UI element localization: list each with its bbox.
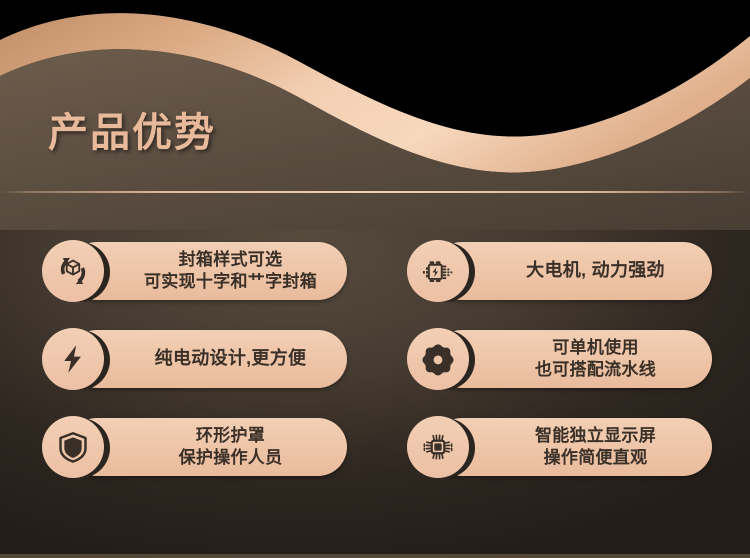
advantages-grid: 封箱样式可选 可实现十字和艹字封箱 [42, 240, 712, 478]
shield-icon [42, 416, 104, 478]
card-line: 保护操作人员 [179, 447, 283, 469]
card-line: 封箱样式可选 [179, 249, 283, 271]
card-line: 操作简便直观 [544, 447, 648, 469]
bottom-strip [0, 554, 750, 558]
advantage-card[interactable]: 纯电动设计,更方便 [42, 328, 347, 390]
card-line: 大电机, 动力强劲 [526, 259, 665, 283]
card-text: 纯电动设计,更方便 [114, 328, 347, 390]
card-text: 可单机使用 也可搭配流水线 [479, 328, 712, 390]
page-title: 产品优势 [48, 112, 216, 154]
cpu-chip-icon [407, 416, 469, 478]
card-line: 环形护罩 [196, 425, 265, 447]
advantage-card[interactable]: 智能独立显示屏 操作简便直观 [407, 416, 712, 478]
advantage-card[interactable]: 大电机, 动力强劲 [407, 240, 712, 302]
advantage-card[interactable]: 可单机使用 也可搭配流水线 [407, 328, 712, 390]
card-text: 大电机, 动力强劲 [479, 240, 712, 302]
box-recycle-icon [42, 240, 104, 302]
advantage-card[interactable]: 封箱样式可选 可实现十字和艹字封箱 [42, 240, 347, 302]
card-line: 也可搭配流水线 [535, 359, 656, 381]
card-text: 封箱样式可选 可实现十字和艹字封箱 [114, 240, 347, 302]
electric-motor-icon [407, 240, 469, 302]
lightning-bolt-icon [42, 328, 104, 390]
product-advantages-page: 产品优势 封箱样式可选 可实现十字和艹字封箱 [0, 0, 750, 558]
card-text: 环形护罩 保护操作人员 [114, 416, 347, 478]
card-line: 纯电动设计,更方便 [155, 347, 307, 371]
title-divider [0, 191, 750, 193]
card-line: 智能独立显示屏 [535, 425, 656, 447]
gear-icon [407, 328, 469, 390]
card-line: 可实现十字和艹字封箱 [144, 271, 317, 293]
card-text: 智能独立显示屏 操作简便直观 [479, 416, 712, 478]
card-line: 可单机使用 [552, 337, 639, 359]
advantage-card[interactable]: 环形护罩 保护操作人员 [42, 416, 347, 478]
